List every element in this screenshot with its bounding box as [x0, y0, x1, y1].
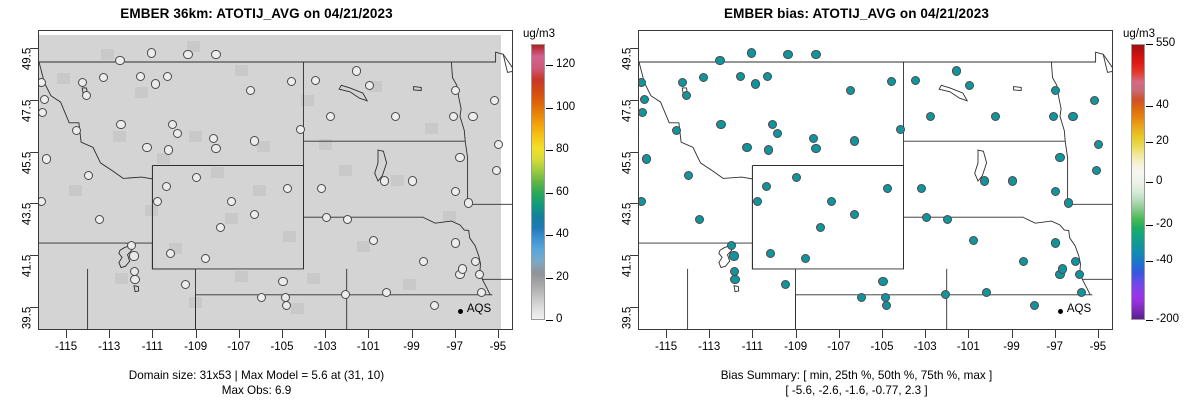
colorbar-tick-label: -200 — [1156, 314, 1179, 326]
monitor-site-marker — [896, 125, 905, 134]
monitor-site-marker — [878, 277, 887, 286]
aqs-dot-icon — [458, 309, 463, 314]
monitor-site-marker — [162, 182, 171, 191]
caption-line-2: [ -5.6, -2.6, -1.6, -0.77, 2.3 ] — [600, 383, 1113, 398]
monitor-site-marker — [78, 78, 87, 87]
monitor-site-marker — [430, 301, 439, 310]
monitor-site-marker — [1019, 257, 1028, 266]
x-axis-label: -99 — [392, 341, 432, 353]
colorbar — [1131, 44, 1145, 320]
monitor-site-marker — [192, 173, 201, 182]
x-axis-label: -101 — [948, 341, 988, 353]
monitor-site-marker — [991, 112, 1000, 121]
monitor-site-marker — [729, 251, 738, 260]
x-axis-tick — [1055, 330, 1056, 338]
monitor-site-marker — [922, 213, 931, 222]
monitor-site-marker — [965, 81, 974, 90]
x-axis-tick — [412, 330, 413, 338]
caption-line-1: Domain size: 31x53 | Max Model = 5.6 at … — [0, 368, 513, 383]
monitor-site-marker — [136, 72, 145, 81]
colorbar-tick-label: 80 — [556, 144, 569, 156]
x-axis-tick — [152, 330, 153, 338]
colorbar-tick — [546, 235, 553, 236]
monitor-site-marker — [882, 301, 891, 310]
monitor-site-marker — [1008, 176, 1017, 185]
monitor-site-marker — [380, 176, 389, 185]
monitor-site-marker — [471, 257, 480, 266]
colorbar-tick — [546, 65, 553, 66]
x-axis-label: -101 — [348, 341, 388, 353]
x-axis-label: -111 — [132, 341, 172, 353]
x-axis-tick — [1012, 330, 1013, 338]
monitor-site-marker — [736, 72, 745, 81]
monitor-site-marker — [468, 112, 477, 121]
monitor-site-marker — [216, 223, 225, 232]
x-axis-tick — [239, 330, 240, 338]
monitor-site-marker — [42, 154, 51, 163]
monitor-site-marker — [116, 120, 125, 129]
colorbar-tick-label: 100 — [556, 102, 575, 114]
colorbar-tick — [546, 278, 553, 279]
x-axis-tick — [1098, 330, 1099, 338]
monitor-site-marker — [130, 275, 139, 284]
colorbar-tick — [1146, 106, 1153, 107]
colorbar-unit-label: ug/m3 — [1123, 28, 1155, 40]
monitor-site-marker — [475, 270, 484, 279]
monitor-site-marker — [250, 136, 259, 145]
colorbar — [531, 44, 545, 320]
monitor-site-marker — [311, 76, 320, 85]
monitor-site-marker — [764, 145, 773, 154]
x-axis-label: -103 — [905, 341, 945, 353]
monitor-site-marker — [811, 144, 820, 153]
colorbar-tick — [1146, 320, 1153, 321]
monitor-site-marker — [183, 50, 192, 59]
monitor-site-marker — [1064, 198, 1073, 207]
x-axis-label: -109 — [776, 341, 816, 353]
monitor-site-marker — [129, 251, 138, 260]
x-axis-label: -95 — [478, 341, 518, 353]
monitor-site-marker — [827, 197, 836, 206]
x-axis-label: -111 — [732, 341, 772, 353]
caption-line-1: Bias Summary: [ min, 25th %, 50th %, 75t… — [600, 368, 1113, 383]
x-axis-label: -99 — [992, 341, 1032, 353]
panel-title: EMBER bias: ATOTIJ_AVG on 04/21/2023 — [600, 6, 1113, 21]
x-axis-tick — [925, 330, 926, 338]
colorbar-tick-label: 20 — [556, 272, 569, 284]
panel-model: EMBER 36km: ATOTIJ_AVG on 04/21/2023 AQS… — [0, 0, 600, 409]
colorbar-tick-label: 60 — [556, 187, 569, 199]
x-axis-tick — [796, 330, 797, 338]
monitor-site-marker — [449, 112, 458, 121]
monitor-site-marker — [227, 197, 236, 206]
x-axis-label: -109 — [176, 341, 216, 353]
map-boundaries — [639, 31, 1113, 330]
monitor-site-marker — [352, 66, 361, 75]
monitor-site-marker — [747, 48, 756, 57]
map-plot-area: AQS — [638, 30, 1113, 330]
monitor-site-marker — [1030, 301, 1039, 310]
colorbar-tick — [546, 108, 553, 109]
monitor-site-marker — [1068, 112, 1077, 121]
monitor-site-marker — [801, 254, 810, 263]
monitor-site-marker — [173, 129, 182, 138]
colorbar-tick-label: 40 — [1156, 100, 1169, 112]
monitor-site-marker — [1051, 238, 1060, 247]
x-axis-tick — [325, 330, 326, 338]
monitor-site-marker — [257, 293, 266, 302]
aqs-label: AQS — [467, 303, 491, 315]
monitor-site-marker — [911, 76, 920, 85]
colorbar-tick-label: 0 — [1156, 176, 1162, 188]
colorbar-tick — [1146, 225, 1153, 226]
x-axis-tick — [282, 330, 283, 338]
monitor-site-marker — [201, 254, 210, 263]
monitor-site-marker — [419, 257, 428, 266]
monitor-site-marker — [751, 79, 760, 88]
map-boundaries — [39, 31, 513, 330]
monitor-site-marker — [40, 95, 49, 104]
monitor-site-marker — [382, 288, 391, 297]
colorbar-tick-label: 120 — [556, 59, 575, 71]
monitor-site-marker — [326, 112, 335, 121]
colorbar-tick-label: -40 — [1156, 255, 1173, 267]
monitor-site-marker — [1058, 264, 1067, 273]
aqs-dot-icon — [1058, 309, 1063, 314]
monitor-site-marker — [640, 95, 649, 104]
monitor-site-marker — [730, 275, 739, 284]
monitor-site-marker — [850, 136, 859, 145]
panel-title: EMBER 36km: ATOTIJ_AVG on 04/21/2023 — [0, 6, 513, 21]
monitor-site-marker — [391, 112, 400, 121]
monitor-site-marker — [1075, 270, 1084, 279]
monitor-site-marker — [715, 56, 724, 65]
colorbar-tick — [546, 150, 553, 151]
monitor-site-marker — [762, 182, 771, 191]
monitor-site-marker — [742, 143, 751, 152]
colorbar-tick — [1146, 261, 1153, 262]
monitor-site-marker — [952, 66, 961, 75]
monitor-site-marker — [365, 81, 374, 90]
x-axis-tick — [666, 330, 667, 338]
monitor-site-marker — [163, 72, 172, 81]
x-axis-tick — [498, 330, 499, 338]
x-axis-tick — [109, 330, 110, 338]
colorbar-tick-label: 0 — [556, 314, 562, 326]
monitor-site-marker — [147, 48, 156, 57]
monitor-site-marker — [857, 293, 866, 302]
colorbar-tick — [546, 193, 553, 194]
colorbar-tick — [546, 320, 553, 321]
x-axis-label: -105 — [262, 341, 302, 353]
monitor-site-marker — [458, 264, 467, 273]
monitor-site-marker — [982, 288, 991, 297]
monitor-site-marker — [278, 277, 287, 286]
x-axis-label: -97 — [435, 341, 475, 353]
monitor-site-marker — [38, 108, 47, 117]
x-axis-label: -103 — [305, 341, 345, 353]
monitor-site-marker — [282, 301, 291, 310]
x-axis-tick — [882, 330, 883, 338]
x-axis-label: -105 — [862, 341, 902, 353]
monitor-site-marker — [811, 50, 820, 59]
colorbar-tick — [1146, 142, 1153, 143]
x-axis-tick — [196, 330, 197, 338]
x-axis-label: -97 — [1035, 341, 1075, 353]
monitor-site-marker — [926, 112, 935, 121]
monitor-site-marker — [816, 223, 825, 232]
x-axis-label: -107 — [819, 341, 859, 353]
monitor-site-marker — [1055, 153, 1064, 162]
monitor-site-marker — [980, 176, 989, 185]
monitor-site-marker — [642, 154, 651, 163]
colorbar-tick — [1146, 44, 1153, 45]
monitor-site-marker — [773, 129, 782, 138]
colorbar-tick — [1146, 182, 1153, 183]
monitor-site-marker — [464, 198, 473, 207]
x-axis-label: -95 — [1078, 341, 1118, 353]
monitor-site-marker — [451, 238, 460, 247]
monitor-site-marker — [716, 120, 725, 129]
colorbar-tick-label: -20 — [1156, 219, 1173, 231]
map-plot-area: AQS — [38, 30, 513, 330]
monitor-site-marker — [638, 108, 647, 117]
x-axis-tick — [968, 330, 969, 338]
x-axis-tick — [709, 330, 710, 338]
monitor-site-marker — [151, 79, 160, 88]
aqs-label: AQS — [1067, 303, 1091, 315]
monitor-site-marker — [783, 50, 792, 59]
monitor-site-marker — [142, 143, 151, 152]
monitor-site-marker — [408, 176, 417, 185]
x-axis-tick — [66, 330, 67, 338]
monitor-site-marker — [322, 213, 331, 222]
colorbar-unit-label: ug/m3 — [523, 28, 555, 40]
x-axis-label: -115 — [646, 341, 686, 353]
x-axis-label: -107 — [219, 341, 259, 353]
panel-bias: EMBER bias: ATOTIJ_AVG on 04/21/2023 AQS… — [600, 0, 1200, 409]
monitor-site-marker — [211, 144, 220, 153]
monitor-site-marker — [763, 72, 772, 81]
x-axis-tick — [455, 330, 456, 338]
x-axis-tick — [752, 330, 753, 338]
monitor-site-marker — [455, 153, 464, 162]
figure-root: EMBER 36km: ATOTIJ_AVG on 04/21/2023 AQS… — [0, 0, 1200, 409]
monitor-site-marker — [296, 125, 305, 134]
caption-line-2: Max Obs: 6.9 — [0, 383, 513, 398]
x-axis-label: -113 — [89, 341, 129, 353]
monitor-site-marker — [1077, 288, 1086, 297]
monitor-site-marker — [477, 288, 486, 297]
x-axis-label: -115 — [46, 341, 86, 353]
x-axis-label: -113 — [689, 341, 729, 353]
monitor-site-marker — [678, 78, 687, 87]
monitor-site-marker — [211, 50, 220, 59]
x-axis-tick — [839, 330, 840, 338]
monitor-site-marker — [1071, 257, 1080, 266]
colorbar-tick-label: 20 — [1156, 136, 1169, 148]
x-axis-tick — [368, 330, 369, 338]
monitor-site-marker — [1049, 112, 1058, 121]
monitor-site-marker — [164, 145, 173, 154]
monitor-site-marker — [115, 56, 124, 65]
colorbar-tick-label: 550 — [1156, 38, 1175, 50]
colorbar-tick-label: 40 — [556, 229, 569, 241]
monitor-site-marker — [792, 173, 801, 182]
